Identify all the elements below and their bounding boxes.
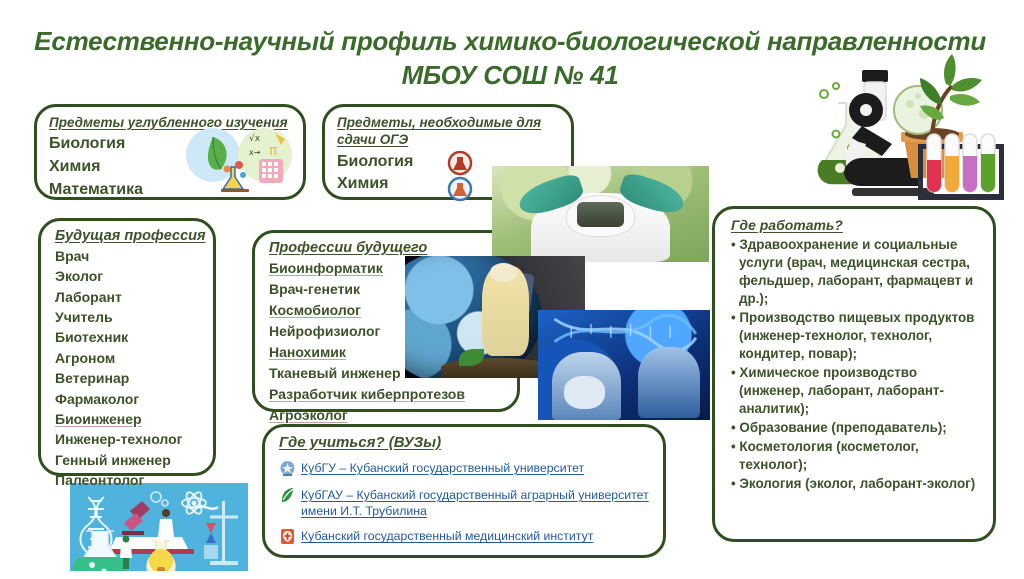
profession-item: Врач	[55, 246, 203, 266]
deep-study-subjects-panel: Предметы углубленного изучения Биология …	[34, 104, 306, 200]
future-profession-item: Разработчик киберпротезов	[269, 384, 507, 405]
slide-canvas: Естественно-научный профиль химико-биоло…	[0, 0, 1024, 579]
universities-header: Где учиться? (ВУЗы)	[279, 434, 651, 451]
list-item[interactable]: КубГУ – Кубанский государственный универ…	[279, 460, 651, 478]
universities-panel: Где учиться? (ВУЗы) КубГУ – Кубанский го…	[262, 424, 666, 558]
profession-item: Инженер-технолог	[55, 429, 203, 449]
title-line-2: МБОУ СОШ № 41	[30, 58, 990, 92]
future-profession-header: Будущая профессия	[55, 228, 203, 244]
profession-item: Учитель	[55, 307, 203, 327]
chemistry-laboratory-icon	[70, 483, 248, 571]
university-link-kubgmi[interactable]: Кубанский государственный медицинский ин…	[301, 528, 593, 544]
oge-badge-icons-group	[443, 151, 477, 203]
profession-item: Палеонтолог	[55, 470, 203, 490]
university-link-kubgau[interactable]: КубГАУ – Кубанский государственный аграр…	[301, 487, 651, 519]
profession-item: Лаборант	[55, 287, 203, 307]
oge-subjects-header: Предметы, необходимые для сдачи ОГЭ	[337, 115, 559, 149]
future-profession-item: Агроэколог	[269, 405, 507, 426]
future-profession-panel: Будущая профессия Врач Эколог Лаборант У…	[38, 218, 216, 476]
future-professions-header: Профессии будущего	[269, 240, 507, 256]
profession-item: Агроном	[55, 348, 203, 368]
kubgau-leaf-icon	[279, 487, 296, 505]
work-item: • Производство пищевых продуктов (инжене…	[731, 309, 981, 363]
kubgmi-shield-icon	[279, 528, 296, 546]
kubgu-emblem-icon	[279, 460, 296, 478]
profession-item: Эколог	[55, 266, 203, 286]
list-item[interactable]: КубГАУ – Кубанский государственный аграр…	[279, 487, 651, 519]
profession-item: Биоинженер	[55, 409, 203, 429]
profession-item: Генный инженер	[55, 450, 203, 470]
page-title: Естественно-научный профиль химико-биоло…	[30, 24, 990, 93]
svg-text:π: π	[269, 143, 278, 159]
work-item: • Здравоохранение и социальные услуги (в…	[731, 236, 981, 308]
svg-text:x→: x→	[249, 148, 261, 157]
where-to-work-panel: Где работать? • Здравоохранение и социал…	[712, 206, 996, 542]
profession-item: Биотехник	[55, 327, 203, 347]
profession-item: Фармаколог	[55, 389, 203, 409]
list-item[interactable]: Кубанский государственный медицинский ин…	[279, 528, 651, 546]
university-link-kubgu[interactable]: КубГУ – Кубанский государственный универ…	[301, 460, 584, 476]
work-item: • Косметология (косметолог, технолог);	[731, 438, 981, 474]
where-to-work-header: Где работать?	[731, 217, 981, 233]
work-item: • Экология (эколог, лаборант-эколог)	[731, 475, 981, 493]
svg-text:√x: √x	[249, 133, 261, 144]
work-item: • Образование (преподаватель);	[731, 419, 981, 437]
doctors-with-dna-helix-photo	[538, 310, 710, 420]
profession-item: Ветеринар	[55, 368, 203, 388]
subject-icons-group: √x π x→	[179, 123, 299, 195]
work-item: • Химическое производство (инженер, лабо…	[731, 364, 981, 418]
scientist-in-protective-suit-photo	[492, 166, 709, 262]
title-line-1: Естественно-научный профиль химико-биоло…	[34, 26, 986, 56]
